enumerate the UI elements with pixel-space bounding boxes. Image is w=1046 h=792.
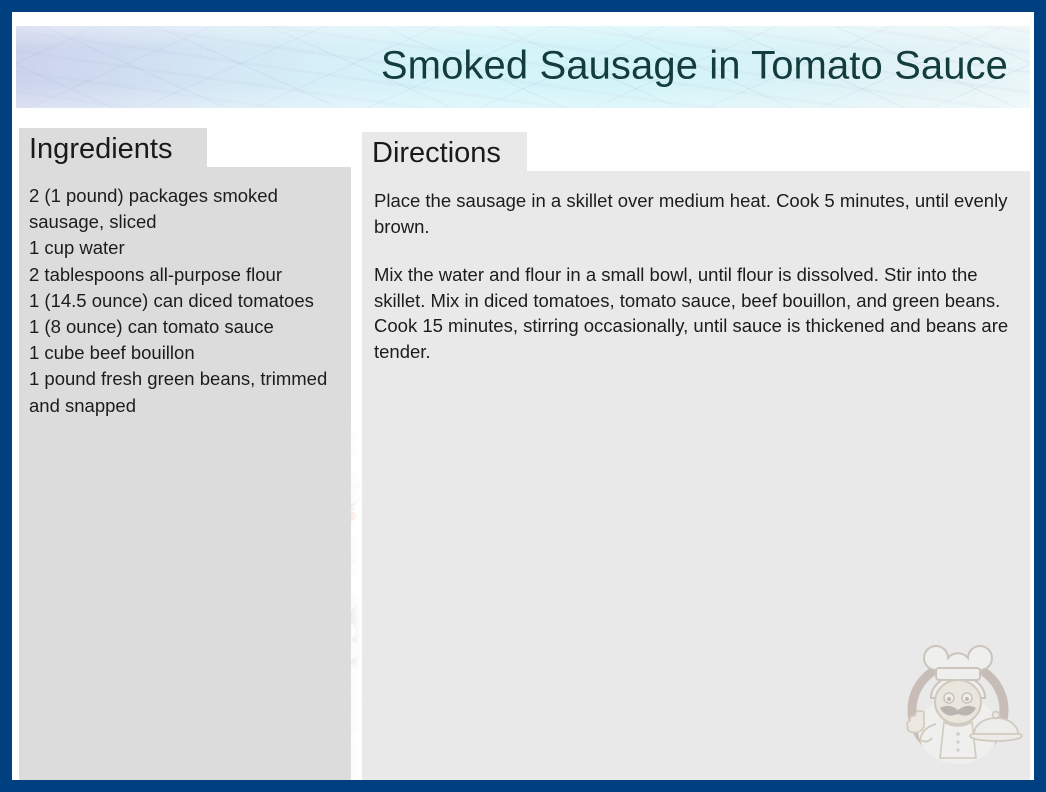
header-banner: Smoked Sausage in Tomato Sauce [16, 26, 1030, 108]
ingredient-item: 1 (8 ounce) can tomato sauce [29, 314, 339, 340]
directions-text: Place the sausage in a skillet over medi… [362, 171, 1030, 364]
ingredients-heading: Ingredients [19, 133, 173, 166]
recipe-card: Smoked Sausage in Tomato Sauce Ingredien… [0, 0, 1046, 792]
direction-paragraph: Place the sausage in a skillet over medi… [374, 188, 1014, 239]
directions-tab: Directions [362, 132, 527, 174]
chef-logo-icon [892, 638, 1024, 764]
directions-heading: Directions [362, 137, 501, 170]
ingredients-tab: Ingredients [19, 128, 207, 170]
ingredient-item: 1 (14.5 ounce) can diced tomatoes [29, 288, 339, 314]
ingredient-item: 2 tablespoons all-purpose flour [29, 262, 339, 288]
ingredients-panel: 2 (1 pound) packages smoked sausage, sli… [19, 167, 351, 780]
ingredient-item: 1 cup water [29, 235, 339, 261]
ingredient-item: 1 pound fresh green beans, trimmed and s… [29, 366, 339, 418]
recipe-page: Smoked Sausage in Tomato Sauce Ingredien… [12, 12, 1034, 780]
ingredient-item: 1 cube beef bouillon [29, 340, 339, 366]
ingredient-item: 2 (1 pound) packages smoked sausage, sli… [29, 183, 339, 235]
page-title: Smoked Sausage in Tomato Sauce [381, 44, 1008, 89]
direction-paragraph: Mix the water and flour in a small bowl,… [374, 262, 1014, 364]
ingredients-list: 2 (1 pound) packages smoked sausage, sli… [29, 183, 339, 419]
